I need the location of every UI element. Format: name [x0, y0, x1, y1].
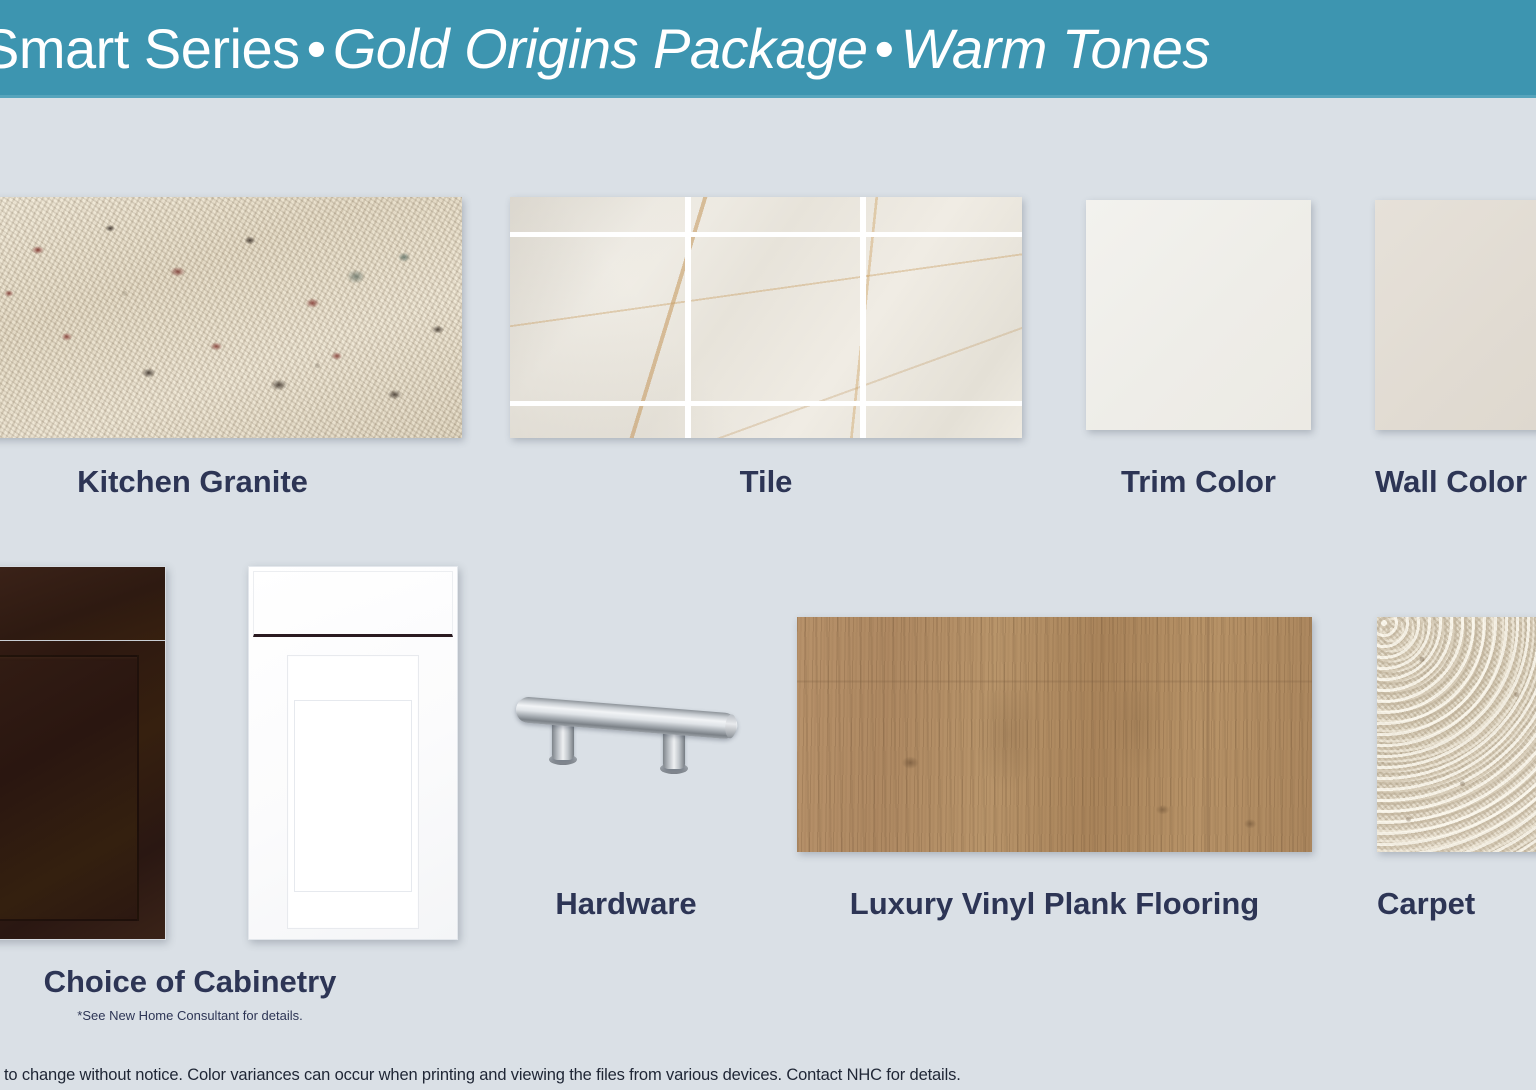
cabinet-drawer-front-white	[253, 571, 453, 637]
hardware-label: Hardware	[480, 886, 772, 922]
cabinet-drawer-front-espresso	[0, 567, 165, 641]
header-bar: Smart Series•Gold Origins Package•Warm T…	[0, 0, 1536, 98]
lvp-flooring-label: Luxury Vinyl Plank Flooring	[797, 886, 1312, 922]
kitchen-granite-label: Kitchen Granite	[0, 464, 385, 500]
header-separator-2: •	[867, 17, 900, 80]
cabinet-panel-espresso	[0, 655, 139, 921]
tile-label: Tile	[510, 464, 1022, 500]
hardware-bar-pull	[515, 696, 738, 740]
trim-color-swatch	[1086, 200, 1311, 430]
cabinet-door-espresso	[0, 566, 166, 940]
header-separator-1: •	[300, 17, 333, 80]
header-package-label: Gold Origins Package	[333, 17, 868, 80]
carpet-swatch	[1377, 617, 1536, 852]
tile-swatch	[510, 197, 1022, 438]
header-tones-label: Warm Tones	[901, 17, 1210, 80]
hardware-swatch	[508, 682, 744, 774]
cabinet-panel-white	[287, 655, 419, 929]
cabinet-panel-inner-white	[294, 700, 412, 892]
header-series-label: Smart Series	[0, 17, 300, 80]
carpet-label: Carpet	[1377, 886, 1536, 922]
lvp-flooring-swatch	[797, 617, 1312, 852]
cabinet-door-white	[248, 566, 458, 940]
tile-grout-horizontal-bottom	[510, 401, 1022, 406]
kitchen-granite-swatch	[0, 197, 462, 438]
wall-color-swatch	[1375, 200, 1536, 430]
page-title: Smart Series•Gold Origins Package•Warm T…	[0, 14, 1210, 84]
trim-color-label: Trim Color	[1086, 464, 1311, 500]
wall-color-label: Wall Color	[1375, 464, 1536, 500]
cabinetry-group-label: Choice of Cabinetry	[0, 964, 390, 1000]
footer-disclaimer: ect to change without notice. Color vari…	[0, 1064, 1536, 1086]
cabinetry-footnote: *See New Home Consultant for details.	[0, 1008, 390, 1024]
tile-grout-horizontal-top	[510, 232, 1022, 237]
